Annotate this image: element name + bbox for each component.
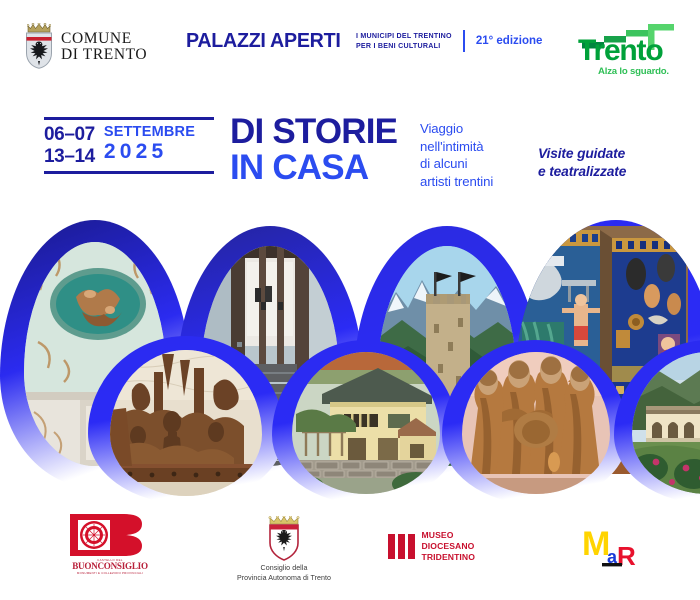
buonconsiglio-b-icon bbox=[68, 512, 152, 558]
subtitle-line-3: di alcuni bbox=[420, 155, 493, 173]
trento-crest-icon bbox=[24, 23, 54, 71]
logo-mar-museo: M a R bbox=[582, 525, 648, 569]
date-month-year: SETTEMBRE 2025 bbox=[104, 124, 195, 168]
logo-consiglio-provincia: Consiglio della Provincia Autonoma di Tr… bbox=[218, 516, 350, 583]
poster-title-band: 06–07 13–14 SETTEMBRE 2025 DI STORIE IN … bbox=[0, 112, 700, 197]
subtitle-line-4: artisti trentini bbox=[420, 173, 493, 191]
palazzi-subtitle-line-1: I MUNICIPI DEL TRENTINO bbox=[356, 32, 452, 41]
arch-photo-clip bbox=[632, 352, 700, 494]
visits-line-1: Visite guidate bbox=[538, 145, 626, 163]
comune-line-2: DI TRENTO bbox=[61, 47, 147, 63]
photo-draped-figures-sculpture bbox=[462, 352, 610, 494]
poster-root: COMUNE DI TRENTO PALAZZI APERTI I MUNICI… bbox=[0, 0, 700, 600]
photo-arcaded-villa-garden bbox=[632, 352, 700, 494]
arch-photo-clip bbox=[462, 352, 610, 494]
museo-diocesano-caption: MUSEO DIOCESANO TRIDENTINO bbox=[422, 530, 476, 562]
logo-buonconsiglio: CASTELLO DEL BUONCONSIGLIO MONUMENTI E C… bbox=[52, 512, 168, 576]
subtitle-line-2: nell'intimità bbox=[420, 138, 493, 156]
poster-footer-logos: CASTELLO DEL BUONCONSIGLIO MONUMENTI E C… bbox=[0, 500, 700, 600]
arch-image-collage bbox=[0, 216, 700, 498]
date-days: 06–07 13–14 bbox=[44, 124, 95, 168]
comune-wordmark: COMUNE DI TRENTO bbox=[61, 31, 147, 63]
photo-villa-with-pergola bbox=[292, 352, 440, 494]
column-icon-3 bbox=[408, 534, 415, 559]
mar-underline bbox=[602, 563, 622, 566]
palazzi-aperti-title: PALAZZI APERTI bbox=[186, 29, 341, 53]
three-columns-icon bbox=[388, 534, 415, 559]
headline-line-2: IN CASA bbox=[230, 150, 397, 186]
column-icon-1 bbox=[388, 534, 395, 559]
museo-line-2: DIOCESANO bbox=[422, 541, 476, 552]
palazzi-aperti-lockup: PALAZZI APERTI I MUNICIPI DEL TRENTINO P… bbox=[186, 29, 542, 53]
comune-di-trento-logo: COMUNE DI TRENTO bbox=[24, 18, 184, 76]
poster-subtitle: Viaggio nell'intimità di alcuni artisti … bbox=[420, 120, 493, 190]
photo-wood-carved-relief bbox=[110, 350, 262, 496]
arch-villa-pergola bbox=[272, 340, 458, 504]
palazzi-aperti-subtitle: I MUNICIPI DEL TRENTINO PER I BENI CULTU… bbox=[356, 31, 452, 51]
trento-city-logo: Trento Alza lo sguardo. bbox=[578, 22, 686, 78]
arch-photo-clip bbox=[110, 350, 262, 496]
date-rule-bottom bbox=[44, 171, 214, 174]
event-dates-block: 06–07 13–14 SETTEMBRE 2025 bbox=[44, 117, 214, 174]
arch-photo-clip bbox=[292, 352, 440, 494]
poster-header: COMUNE DI TRENTO PALAZZI APERTI I MUNICI… bbox=[0, 0, 700, 100]
trento-tagline: Alza lo sguardo. bbox=[598, 66, 669, 77]
subtitle-line-1: Viaggio bbox=[420, 120, 493, 138]
museo-line-1: MUSEO bbox=[422, 530, 476, 541]
visits-tagline: Visite guidate e teatralizzate bbox=[538, 145, 626, 180]
consiglio-line-1: Consiglio della bbox=[218, 564, 350, 574]
arch-draped-figures bbox=[442, 340, 628, 504]
page-title: DI STORIE IN CASA bbox=[230, 114, 397, 186]
date-year: 2025 bbox=[104, 141, 195, 162]
eagle-shield-icon bbox=[25, 32, 53, 69]
visits-line-2: e teatralizzate bbox=[538, 163, 626, 181]
mar-wordmark-icon: M a R bbox=[582, 525, 648, 569]
arch-arcaded-villa bbox=[614, 340, 700, 504]
edition-label: 21° edizione bbox=[476, 35, 543, 47]
provincia-crest-icon bbox=[267, 516, 301, 562]
date-month: SETTEMBRE bbox=[104, 124, 195, 141]
date-days-line-1: 06–07 bbox=[44, 124, 95, 146]
column-icon-2 bbox=[398, 534, 405, 559]
logo-museo-diocesano: MUSEO DIOCESANO TRIDENTINO bbox=[388, 530, 475, 562]
consiglio-provincia-caption: Consiglio della Provincia Autonoma di Tr… bbox=[218, 564, 350, 583]
buonconsiglio-mark-icon bbox=[68, 512, 152, 558]
palazzi-subtitle-line-2: PER I BENI CULTURALI bbox=[356, 42, 452, 51]
eagle-crest-icon bbox=[267, 516, 301, 562]
vertical-divider bbox=[463, 30, 465, 52]
trento-wordmark: Trento bbox=[578, 36, 662, 66]
date-days-line-2: 13–14 bbox=[44, 146, 95, 168]
headline-line-1: DI STORIE bbox=[230, 114, 397, 150]
buonconsiglio-caption-bottom: MONUMENTI E COLLEZIONI PROVINCIALI bbox=[52, 572, 168, 575]
comune-line-1: COMUNE bbox=[61, 30, 132, 47]
arch-wood-relief bbox=[88, 336, 284, 504]
museo-line-3: TRIDENTINO bbox=[422, 552, 476, 563]
date-rows: 06–07 13–14 SETTEMBRE 2025 bbox=[44, 120, 214, 171]
consiglio-line-2: Provincia Autonoma di Trento bbox=[218, 574, 350, 584]
